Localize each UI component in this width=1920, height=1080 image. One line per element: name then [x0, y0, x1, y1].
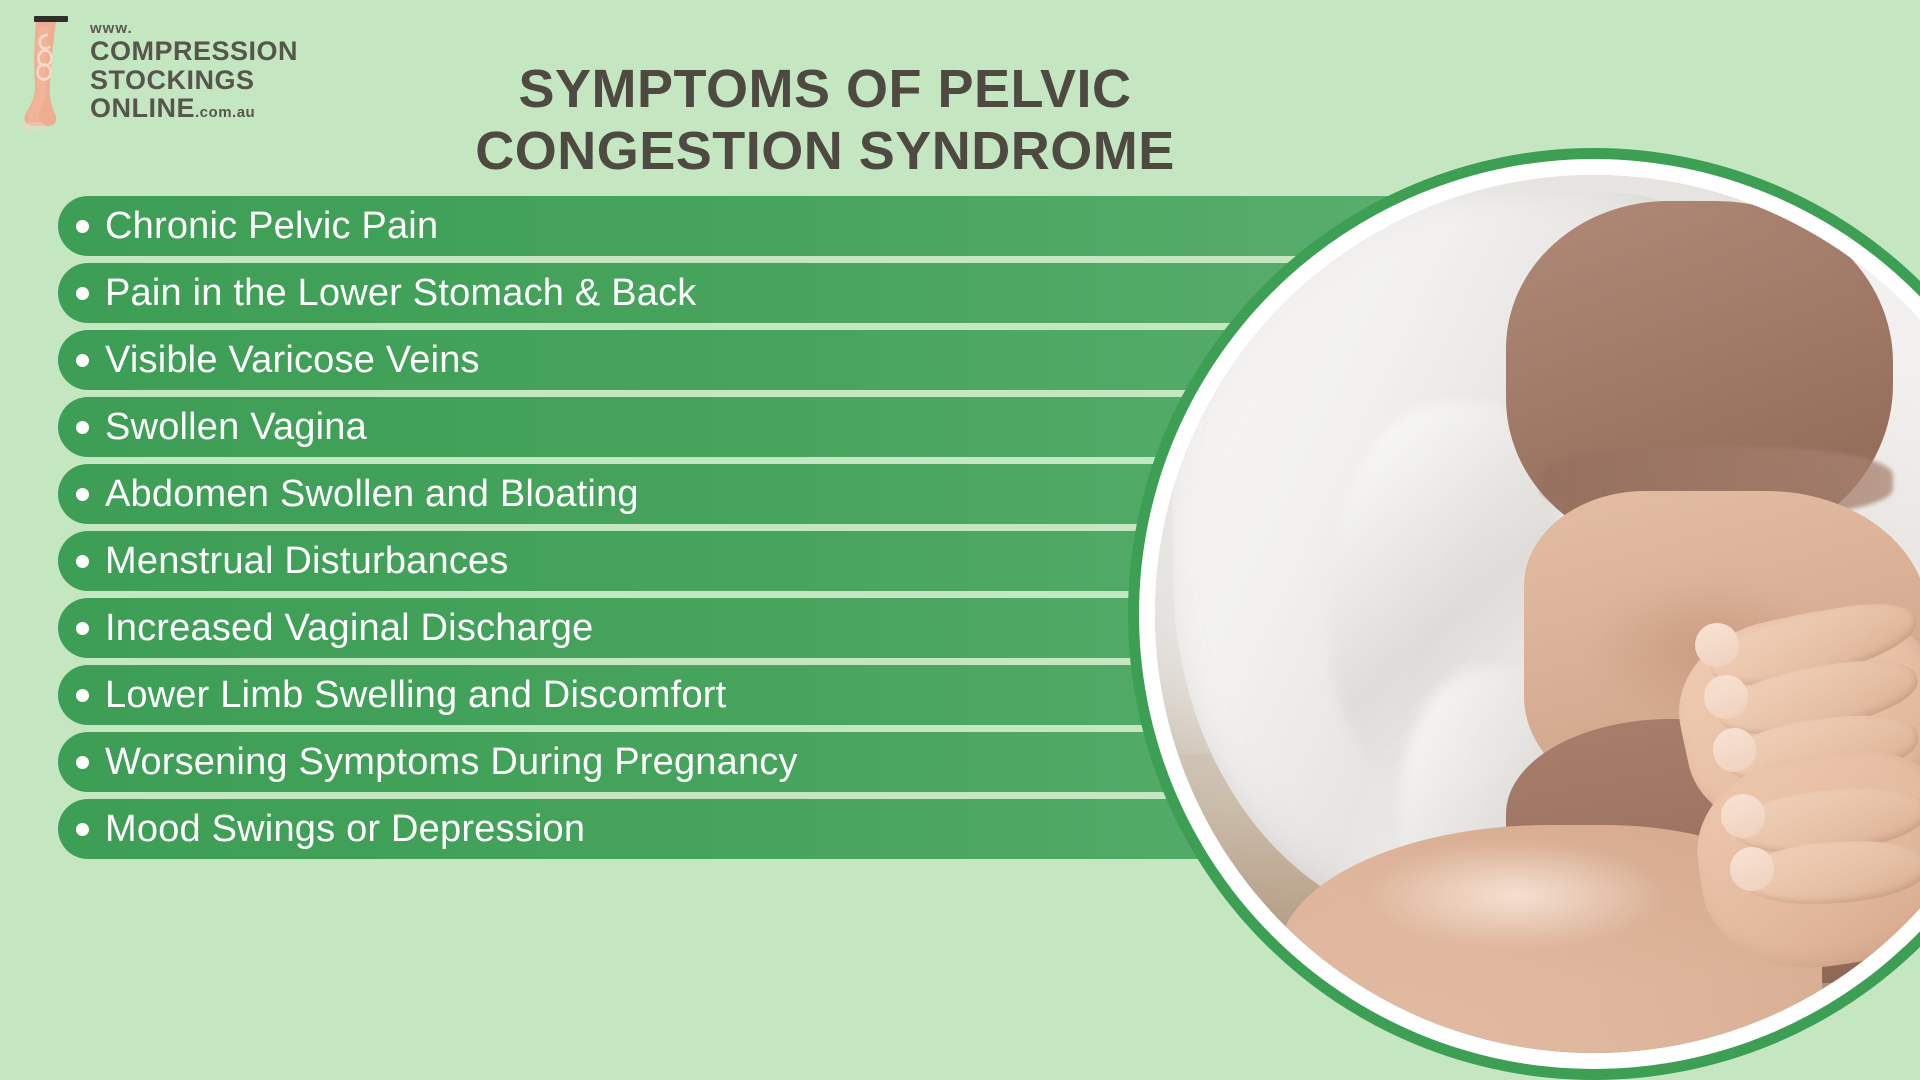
symptom-label: Lower Limb Swelling and Discomfort [105, 674, 726, 717]
bullet-icon [76, 488, 89, 501]
logo-line-online: ONLINE.com.au [90, 94, 298, 123]
logo-tld: .com.au [195, 104, 255, 121]
photo-white-ring [1139, 159, 1920, 1069]
page-title: SYMPTOMS OF PELVIC CONGESTION SYNDROME [380, 58, 1270, 182]
symptom-label: Worsening Symptoms During Pregnancy [105, 741, 798, 784]
logo-www: www. [90, 21, 298, 36]
logo-online-word: ONLINE [90, 93, 195, 123]
infographic-poster: www. COMPRESSION STOCKINGS ONLINE.com.au… [0, 0, 1920, 1080]
symptom-label: Increased Vaginal Discharge [105, 607, 593, 650]
photo-circle-frame [1128, 148, 1920, 1080]
woman-holding-lower-abdomen-photo [1155, 175, 1920, 1053]
bullet-icon [76, 287, 89, 300]
page-title-line-2: CONGESTION SYNDROME [380, 120, 1270, 182]
bullet-icon [76, 622, 89, 635]
symptom-label: Mood Swings or Depression [105, 808, 585, 851]
symptom-label: Visible Varicose Veins [105, 339, 480, 382]
symptom-label: Abdomen Swollen and Bloating [105, 473, 639, 516]
page-title-line-1: SYMPTOMS OF PELVIC [380, 58, 1270, 120]
bullet-icon [76, 421, 89, 434]
bullet-icon [76, 823, 89, 836]
logo-line-stockings: STOCKINGS [90, 66, 298, 95]
symptom-label: Swollen Vagina [105, 406, 367, 449]
logo-line-compression: COMPRESSION [90, 37, 298, 66]
brand-logo-text: www. COMPRESSION STOCKINGS ONLINE.com.au [90, 21, 298, 123]
bullet-icon [76, 689, 89, 702]
symptom-label: Menstrual Disturbances [105, 540, 509, 583]
symptom-label: Pain in the Lower Stomach & Back [105, 272, 697, 315]
compression-stocking-leg-icon [18, 13, 80, 131]
bullet-icon [76, 756, 89, 769]
bullet-icon [76, 220, 89, 233]
bullet-icon [76, 555, 89, 568]
brand-logo[interactable]: www. COMPRESSION STOCKINGS ONLINE.com.au [18, 12, 348, 132]
symptom-label: Chronic Pelvic Pain [105, 205, 438, 248]
bullet-icon [76, 354, 89, 367]
